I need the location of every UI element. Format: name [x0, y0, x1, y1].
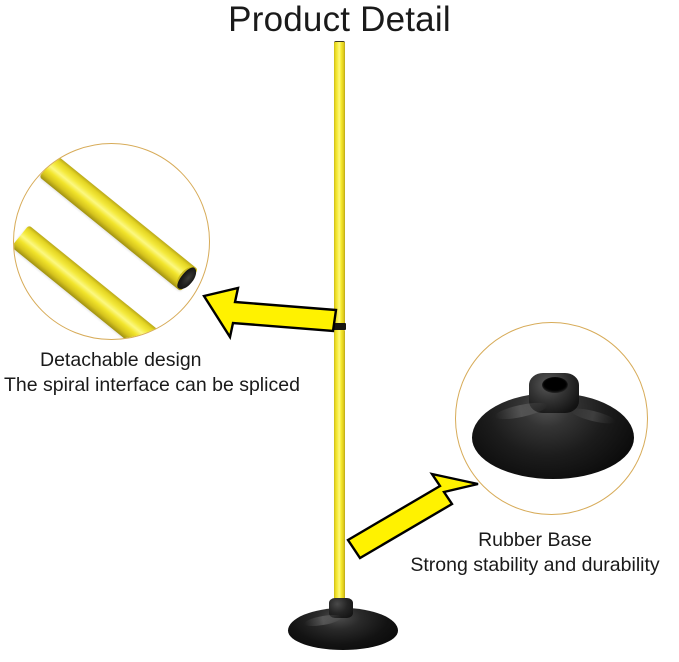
- pole-lower-segment: [334, 330, 345, 615]
- page-title: Product Detail: [0, 0, 679, 40]
- callout-circle-detachable-design: [13, 143, 210, 340]
- callout-circle-rubber-base: [455, 322, 648, 515]
- rubber-base-illustration: [472, 371, 634, 479]
- caption-line-primary: Detachable design: [4, 348, 300, 373]
- product-detail-page: Product Detail Detachable design The spi…: [0, 0, 679, 662]
- caption-line-secondary: Strong stability and durability: [392, 553, 678, 578]
- arrow-left-shape: [204, 288, 336, 337]
- tube-open-end-icon: [173, 264, 200, 293]
- product-rubber-base: [288, 596, 398, 650]
- caption-detachable-design: Detachable design The spiral interface c…: [4, 348, 300, 398]
- caption-line-primary: Rubber Base: [392, 528, 678, 553]
- rubber-base-socket-hole: [542, 377, 568, 393]
- pointer-arrow-left: [200, 282, 340, 342]
- caption-line-secondary: The spiral interface can be spliced: [4, 373, 300, 398]
- tube-open-end-icon: [145, 334, 172, 340]
- caption-rubber-base: Rubber Base Strong stability and durabil…: [392, 528, 678, 578]
